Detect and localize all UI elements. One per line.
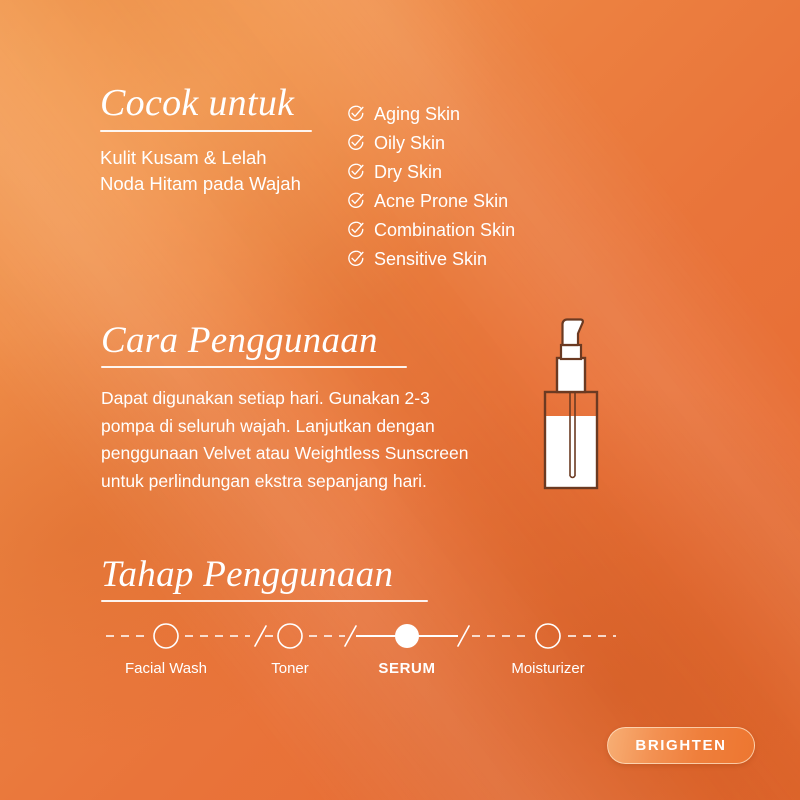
- skin-type-list: Aging Skin Oily Skin Dry Skin: [345, 100, 515, 273]
- list-item-label: Oily Skin: [374, 134, 445, 152]
- list-item: Aging Skin: [345, 100, 515, 128]
- check-circle-icon: [345, 221, 364, 240]
- list-item: Dry Skin: [345, 158, 515, 186]
- suitable-subtitle: Kulit Kusam & Lelah Noda Hitam pada Waja…: [100, 145, 350, 198]
- suitable-heading-underline: [100, 130, 312, 132]
- suitable-subtitle-line-2: Noda Hitam pada Wajah: [100, 171, 350, 197]
- usage-paragraph-line-2: pompa di seluruh wajah. Lanjutkan dengan: [101, 413, 531, 441]
- usage-heading-underline: [101, 366, 407, 368]
- usage-paragraph-line-1: Dapat digunakan setiap hari. Gunakan 2-3: [101, 385, 531, 413]
- list-item-label: Aging Skin: [374, 105, 460, 123]
- suitable-subtitle-line-1: Kulit Kusam & Lelah: [100, 145, 350, 171]
- check-circle-icon: [345, 163, 364, 182]
- check-circle-icon: [345, 105, 364, 124]
- check-circle-icon: [345, 250, 364, 269]
- step-label-facial-wash: Facial Wash: [125, 660, 207, 677]
- product-info-poster: Cocok untuk Kulit Kusam & Lelah Noda Hit…: [0, 0, 800, 800]
- usage-paragraph: Dapat digunakan setiap hari. Gunakan 2-3…: [101, 385, 531, 496]
- list-item: Acne Prone Skin: [345, 187, 515, 215]
- section-suitable-for: Cocok untuk Kulit Kusam & Lelah Noda Hit…: [100, 84, 350, 198]
- steps-heading-underline: [101, 600, 428, 602]
- list-item-label: Acne Prone Skin: [374, 192, 508, 210]
- usage-paragraph-line-4: untuk perlindungan ekstra sepanjang hari…: [101, 468, 531, 496]
- step-label-serum: SERUM: [378, 660, 435, 677]
- list-item: Sensitive Skin: [345, 245, 515, 273]
- step-label-toner: Toner: [271, 660, 309, 677]
- status-badge: BRIGHTEN: [607, 727, 755, 764]
- check-circle-icon: [345, 134, 364, 153]
- steps-heading: Tahap Penggunaan: [101, 556, 621, 593]
- list-item-label: Combination Skin: [374, 221, 515, 239]
- check-circle-icon: [345, 192, 364, 211]
- usage-heading: Cara Penggunaan: [101, 322, 531, 359]
- section-usage-steps: Tahap Penggunaan: [101, 556, 621, 602]
- step-indicator: Facial Wash Toner SERUM Moisturizer: [100, 618, 620, 688]
- step-label-moisturizer: Moisturizer: [511, 660, 584, 677]
- list-item-label: Dry Skin: [374, 163, 442, 181]
- badge-label: BRIGHTEN: [635, 737, 726, 754]
- list-item: Combination Skin: [345, 216, 515, 244]
- usage-paragraph-line-3: penggunaan Velvet atau Weightless Sunscr…: [101, 440, 531, 468]
- list-item: Oily Skin: [345, 129, 515, 157]
- pump-bottle-icon: [520, 300, 640, 510]
- list-item-label: Sensitive Skin: [374, 250, 487, 268]
- section-how-to-use: Cara Penggunaan Dapat digunakan setiap h…: [101, 322, 531, 496]
- suitable-heading: Cocok untuk: [100, 84, 350, 122]
